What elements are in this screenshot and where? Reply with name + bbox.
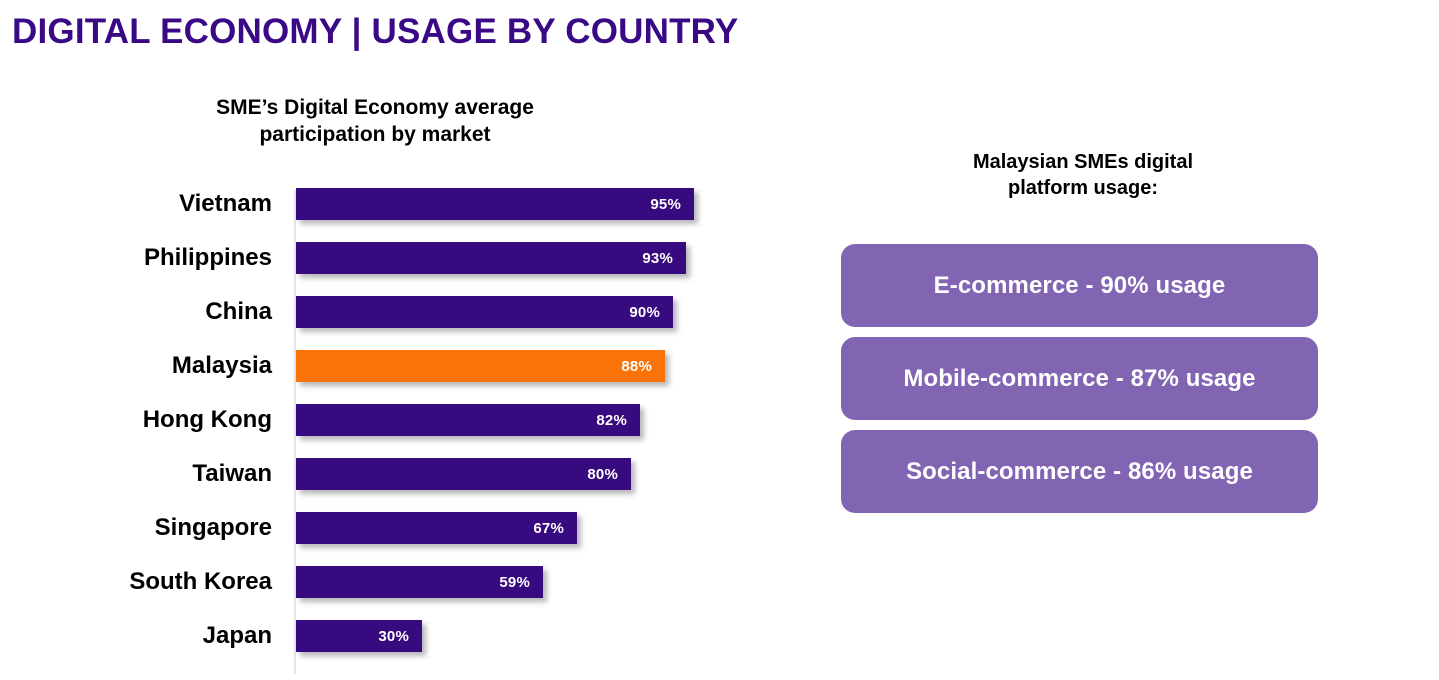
bar-value-label: 95% [650, 196, 694, 213]
bar-fill-highlight: 88% [296, 350, 665, 382]
chart-plot-area: Vietnam95%Philippines93%China90%Malaysia… [0, 188, 760, 680]
bar-track: 67% [296, 512, 760, 544]
bar-fill: 95% [296, 188, 694, 220]
page-title: DIGITAL ECONOMY | USAGE BY COUNTRY [12, 13, 738, 52]
usage-panel: Malaysian SMEs digital platform usage: E… [838, 140, 1328, 590]
bar-row: Philippines93% [0, 242, 760, 296]
bar-fill: 80% [296, 458, 631, 490]
bar-category-label: Malaysia [0, 350, 272, 382]
usage-pill[interactable]: E-commerce - 90% usage [841, 244, 1318, 327]
bar-category-label: Singapore [0, 512, 272, 544]
bar-fill: 90% [296, 296, 673, 328]
bar-row: Singapore67% [0, 512, 760, 566]
usage-panel-heading: Malaysian SMEs digital platform usage: [838, 149, 1328, 202]
bar-fill: 93% [296, 242, 686, 274]
bar-category-label: Japan [0, 620, 272, 652]
bar-value-label: 82% [596, 412, 640, 429]
bar-category-label: Philippines [0, 242, 272, 274]
bar-fill: 30% [296, 620, 422, 652]
bar-fill: 67% [296, 512, 577, 544]
bar-track: 90% [296, 296, 760, 328]
bar-track: 80% [296, 458, 760, 490]
chart-title-line-2: participation by market [140, 121, 610, 148]
bar-value-label: 93% [642, 250, 686, 267]
bar-fill: 59% [296, 566, 543, 598]
usage-pill-label: Mobile-commerce - 87% usage [903, 365, 1255, 393]
bar-category-label: China [0, 296, 272, 328]
bar-row: Vietnam95% [0, 188, 760, 242]
usage-pill[interactable]: Social-commerce - 86% usage [841, 430, 1318, 513]
usage-heading-line-1: Malaysian SMEs digital [838, 149, 1328, 175]
bar-fill: 82% [296, 404, 640, 436]
bar-row: Japan30% [0, 620, 760, 674]
bar-track: 30% [296, 620, 760, 652]
bar-track: 88% [296, 350, 760, 382]
bar-track: 95% [296, 188, 760, 220]
bar-value-label: 67% [533, 520, 577, 537]
bar-row: South Korea59% [0, 566, 760, 620]
bar-row: Hong Kong82% [0, 404, 760, 458]
slide-canvas: DIGITAL ECONOMY | USAGE BY COUNTRY SME’s… [0, 0, 1439, 680]
usage-pill-label: E-commerce - 90% usage [934, 272, 1226, 300]
bar-chart-panel: SME’s Digital Economy average participat… [0, 88, 760, 680]
bar-row: Malaysia88% [0, 350, 760, 404]
bar-category-label: Hong Kong [0, 404, 272, 436]
bar-track: 59% [296, 566, 760, 598]
bar-category-label: Vietnam [0, 188, 272, 220]
bar-row: Taiwan80% [0, 458, 760, 512]
bar-value-label: 30% [378, 628, 422, 645]
bar-row: China90% [0, 296, 760, 350]
usage-pill-label: Social-commerce - 86% usage [906, 458, 1253, 486]
bar-value-label: 59% [499, 574, 543, 591]
bar-track: 93% [296, 242, 760, 274]
bar-value-label: 90% [629, 304, 673, 321]
usage-pill[interactable]: Mobile-commerce - 87% usage [841, 337, 1318, 420]
bar-value-label: 88% [621, 358, 665, 375]
chart-title-line-1: SME’s Digital Economy average [140, 94, 610, 121]
usage-heading-line-2: platform usage: [838, 175, 1328, 201]
bar-category-label: Taiwan [0, 458, 272, 490]
bar-track: 82% [296, 404, 760, 436]
chart-title: SME’s Digital Economy average participat… [140, 94, 610, 149]
bar-value-label: 80% [587, 466, 631, 483]
bar-category-label: South Korea [0, 566, 272, 598]
